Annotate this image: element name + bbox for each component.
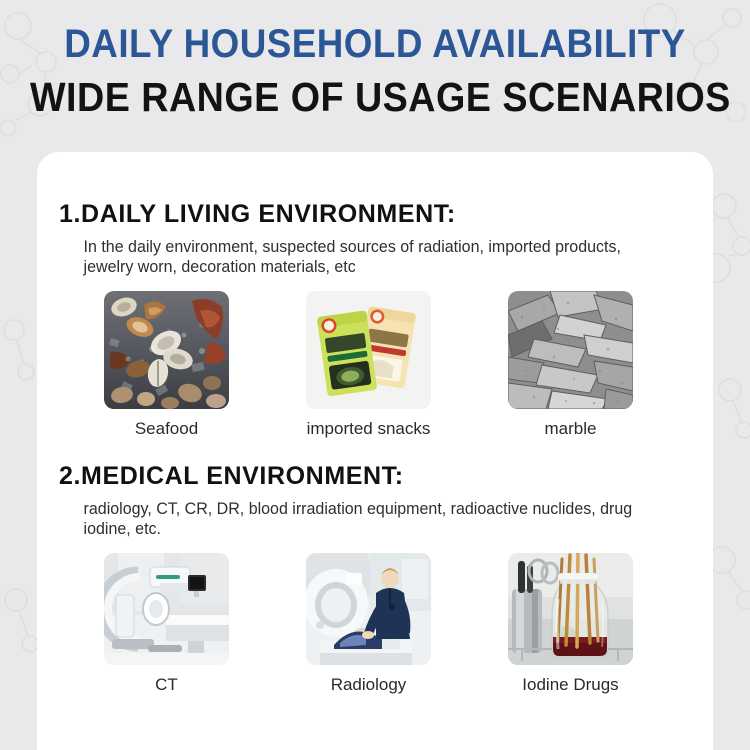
section-2-thumbnail-row: CT [37, 539, 713, 695]
section-1-body: In the daily environment, suspected sour… [37, 229, 693, 277]
section-1-heading: 1.DAILY LIVING ENVIRONMENT: [37, 152, 713, 229]
section-daily-living-environment: 1.DAILY LIVING ENVIRONMENT: In the daily… [37, 152, 713, 439]
marble-slabs-photo [508, 291, 633, 409]
thumbnail-caption-imported-snacks: imported snacks [307, 409, 431, 439]
content-card: 1.DAILY LIVING ENVIRONMENT: In the daily… [37, 152, 713, 750]
thumbnail-item-ct[interactable]: CT [85, 553, 248, 695]
thumbnail-caption-radiology: Radiology [331, 665, 407, 695]
thumbnail-caption-marble: marble [545, 409, 597, 439]
section-2-heading: 2.MEDICAL ENVIRONMENT: [37, 454, 713, 491]
thumbnail-item-radiology[interactable]: Radiology [287, 553, 450, 695]
page-title-secondary: WIDE RANGE OF USAGE SCENARIOS [30, 66, 720, 120]
radiology-technician-photo [306, 553, 431, 665]
page-title-primary: DAILY HOUSEHOLD AVAILABILITY [30, 0, 720, 66]
thumbnail-caption-seafood: Seafood [135, 409, 198, 439]
section-1-thumbnail-row: Seafood [37, 277, 713, 439]
thumbnail-item-imported-snacks[interactable]: imported snacks [287, 291, 450, 439]
ct-scanner-photo [104, 553, 229, 665]
thumbnail-caption-iodine-drugs: Iodine Drugs [522, 665, 618, 695]
thumbnail-caption-ct: CT [155, 665, 178, 695]
header-banner: DAILY HOUSEHOLD AVAILABILITY WIDE RANGE … [0, 0, 750, 152]
thumbnail-item-iodine-drugs[interactable]: Iodine Drugs [489, 553, 652, 695]
thumbnail-item-marble[interactable]: marble [489, 291, 652, 439]
section-2-body: radiology, CT, CR, DR, blood irradiation… [37, 491, 693, 539]
seafood-on-ice-photo [104, 291, 229, 409]
iodine-bottle-photo [508, 553, 633, 665]
japanese-snack-packages-photo [306, 291, 431, 409]
thumbnail-item-seafood[interactable]: Seafood [85, 291, 248, 439]
section-medical-environment: 2.MEDICAL ENVIRONMENT: radiology, CT, CR… [37, 454, 713, 695]
